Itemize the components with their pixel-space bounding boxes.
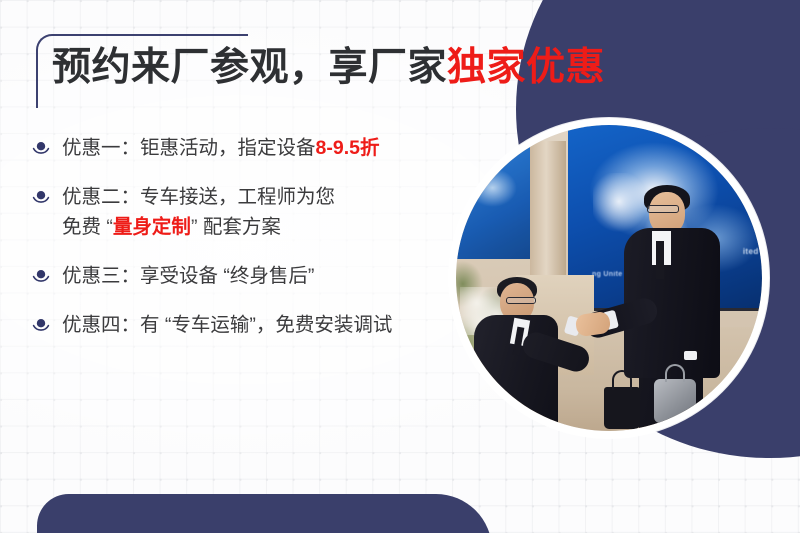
list-item-line: 免费 “量身定制” 配套方案	[62, 216, 281, 238]
text-segment: 优惠一：钜惠活动，指定设备	[62, 137, 316, 159]
list-item: 优惠三：享受设备 “终身售后”	[30, 261, 500, 291]
photo-person-right-glasses	[647, 205, 679, 213]
photo-person-right-tie	[656, 241, 664, 279]
list-item: 优惠二：专车接送，工程师为您 免费 “量身定制” 配套方案	[30, 182, 500, 242]
list-item: 优惠四：有 “专车运输”，免费安装调试	[30, 310, 500, 340]
text-segment: 优惠二：专车接送，工程师为您	[62, 186, 335, 208]
page-title-plain: 预约来厂参观，享厂家	[52, 46, 447, 89]
list-item-line: 优惠四：有 “专车运输”，免费安装调试	[62, 314, 392, 336]
promo-banner: 预约来厂参观，享厂家独家优惠 优惠一：钜惠活动，指定设备8-9.5折	[0, 0, 800, 533]
eye-bullet-icon	[30, 138, 52, 160]
photo-dark-handbag	[604, 387, 640, 429]
screen-text-right: ited P	[743, 247, 762, 256]
text-segment: 配套方案	[197, 216, 280, 238]
list-item: 优惠一：钜惠活动，指定设备8-9.5折	[30, 133, 500, 163]
text-segment-highlight: 量身定制	[113, 216, 191, 238]
page-title-accent: 独家优惠	[447, 46, 605, 89]
list-item-line: 优惠一：钜惠活动，指定设备8-9.5折	[62, 137, 379, 159]
list-item-text: 优惠二：专车接送，工程师为您 免费 “量身定制” 配套方案	[62, 182, 500, 242]
photo-person-left-glasses	[506, 297, 536, 304]
list-item-text: 优惠一：钜惠活动，指定设备8-9.5折	[62, 133, 500, 163]
photo-person-right-shin	[650, 425, 686, 431]
list-item-line: 优惠三：享受设备 “终身售后”	[62, 265, 314, 287]
screen-text-left: ng Unite	[592, 271, 622, 278]
photo-gray-bag	[654, 379, 696, 423]
eye-bullet-icon	[30, 187, 52, 209]
page-title: 预约来厂参观，享厂家独家优惠	[52, 48, 605, 87]
photo-pillar	[530, 141, 566, 291]
photo-wristwatch	[684, 351, 697, 360]
text-segment-highlight: 8-9.5折	[316, 137, 380, 159]
bottom-navy-bar	[37, 494, 492, 533]
eye-bullet-icon	[30, 266, 52, 288]
list-item-text: 优惠三：享受设备 “终身售后”	[62, 261, 500, 291]
list-item-text: 优惠四：有 “专车运输”，免费安装调试	[62, 310, 500, 340]
photo-inner: ited P ng Unite	[456, 125, 762, 431]
text-segment: 免费	[62, 216, 106, 238]
eye-bullet-icon	[30, 315, 52, 337]
handshake-meeting-photo: ited P ng Unite	[449, 118, 769, 438]
benefits-list: 优惠一：钜惠活动，指定设备8-9.5折 优惠二：专车接送，工程师为您 免费 “量…	[30, 133, 500, 359]
list-item-line: 优惠二：专车接送，工程师为您	[62, 186, 335, 208]
